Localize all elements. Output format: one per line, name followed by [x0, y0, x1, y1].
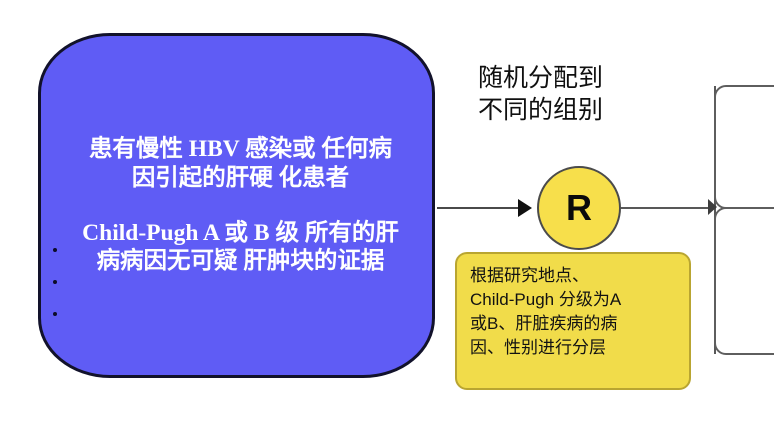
eligibility-to-randomization-connector	[437, 207, 525, 209]
eligibility-text-block: 患有慢性 HBV 感染或 任何病因引起的肝硬 化患者 Child-Pugh A …	[41, 36, 432, 375]
branch-notch-icon	[708, 199, 717, 215]
arrow-head-icon	[518, 199, 532, 217]
eligibility-paragraph-2: Child-Pugh A 或 B 级 所有的肝病病因无可疑 肝肿块的证据	[79, 219, 402, 276]
treatment-arm-box-top	[714, 85, 774, 209]
randomization-label: 随机分配到 不同的组别	[478, 62, 690, 126]
randomization-to-arms-connector	[621, 207, 716, 209]
randomization-node: R	[537, 166, 621, 250]
stratification-note: 根据研究地点、 Child-Pugh 分级为A 或B、肝脏疾病的病 因、性别进行…	[455, 252, 691, 390]
eligibility-criteria-node: 患有慢性 HBV 感染或 任何病因引起的肝硬 化患者 Child-Pugh A …	[38, 33, 435, 378]
eligibility-paragraph-1: 患有慢性 HBV 感染或 任何病因引起的肝硬 化患者	[79, 135, 402, 192]
diagram-canvas: 患有慢性 HBV 感染或 任何病因引起的肝硬 化患者 Child-Pugh A …	[0, 0, 774, 436]
treatment-arm-box-bottom	[714, 207, 774, 355]
